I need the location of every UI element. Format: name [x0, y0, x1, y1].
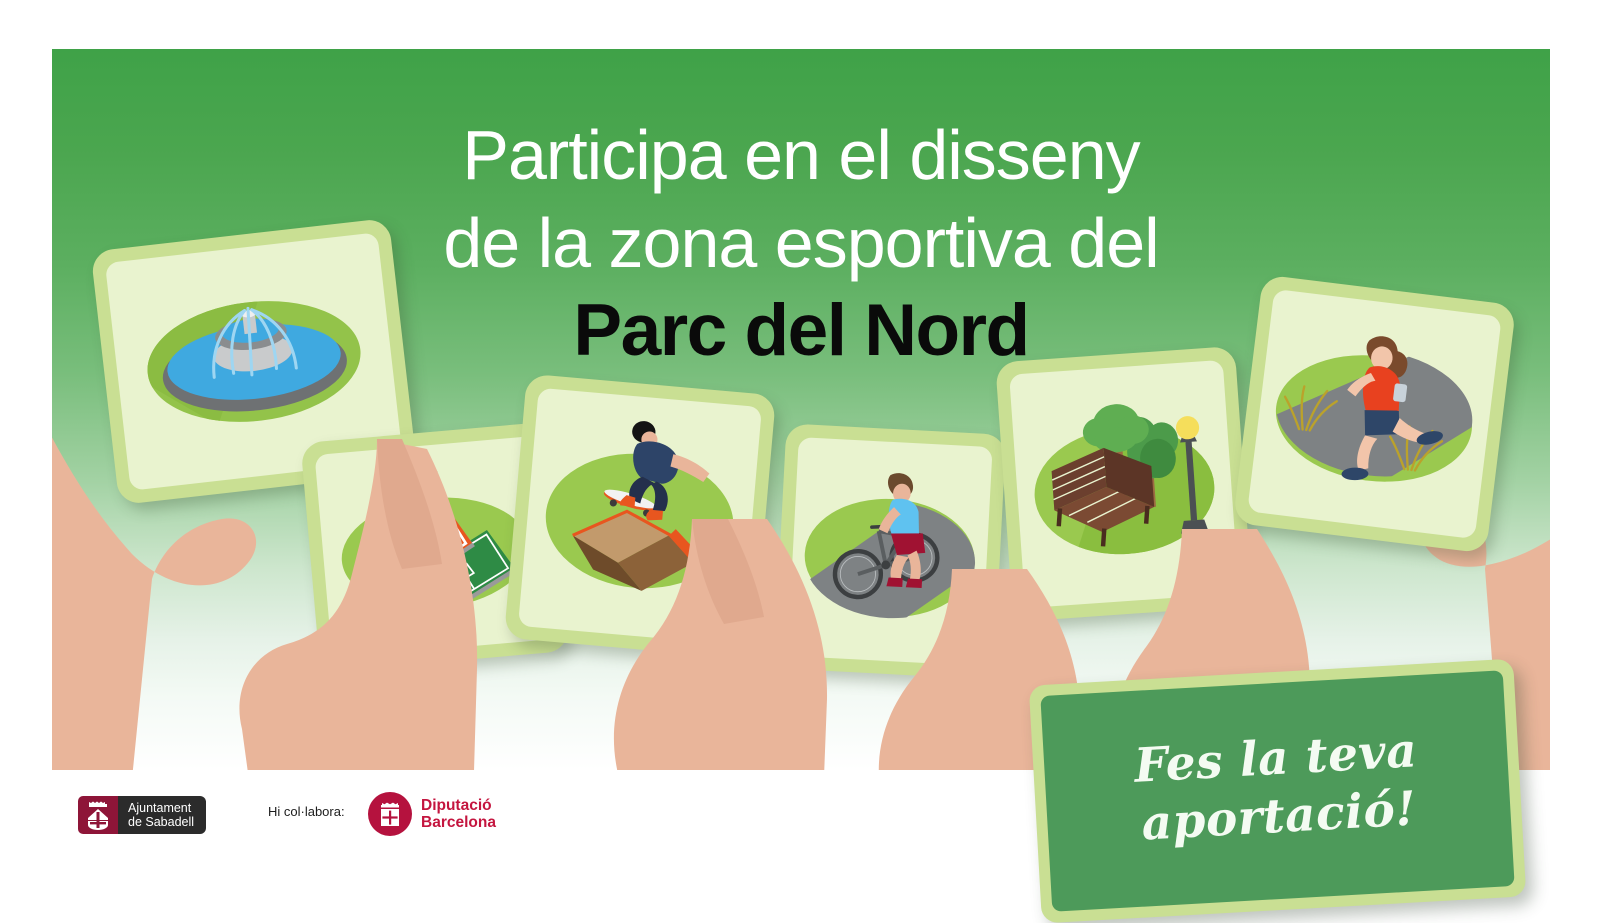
ajuntament-line-2: de Sabadell: [128, 815, 194, 830]
hand-left-inner: [227, 439, 547, 770]
diputacio-barcelona-logo[interactable]: Diputació Barcelona: [368, 792, 496, 836]
ajuntament-line-1: Ajuntament: [128, 801, 194, 816]
diputacio-crest-icon: [368, 792, 412, 836]
hand-middle: [572, 519, 872, 770]
option-card-running-path[interactable]: [1233, 274, 1517, 553]
card-artwork-running-path: [1247, 289, 1502, 539]
sabadell-crest-icon: [78, 796, 118, 834]
footer-logos: Ajuntament de Sabadell Hi col·labora: Di…: [0, 782, 1600, 862]
ajuntament-de-sabadell-logo[interactable]: Ajuntament de Sabadell: [78, 796, 206, 834]
collaborate-label: Hi col·labora:: [268, 804, 345, 819]
diputacio-line-2: Barcelona: [421, 814, 496, 832]
campaign-banner: Participa en el disseny de la zona espor…: [52, 49, 1550, 770]
ajuntament-wordmark: Ajuntament de Sabadell: [118, 796, 206, 834]
title-line-1: Participa en el disseny: [52, 111, 1550, 199]
diputacio-wordmark: Diputació Barcelona: [421, 797, 496, 832]
diputacio-line-1: Diputació: [421, 797, 496, 815]
